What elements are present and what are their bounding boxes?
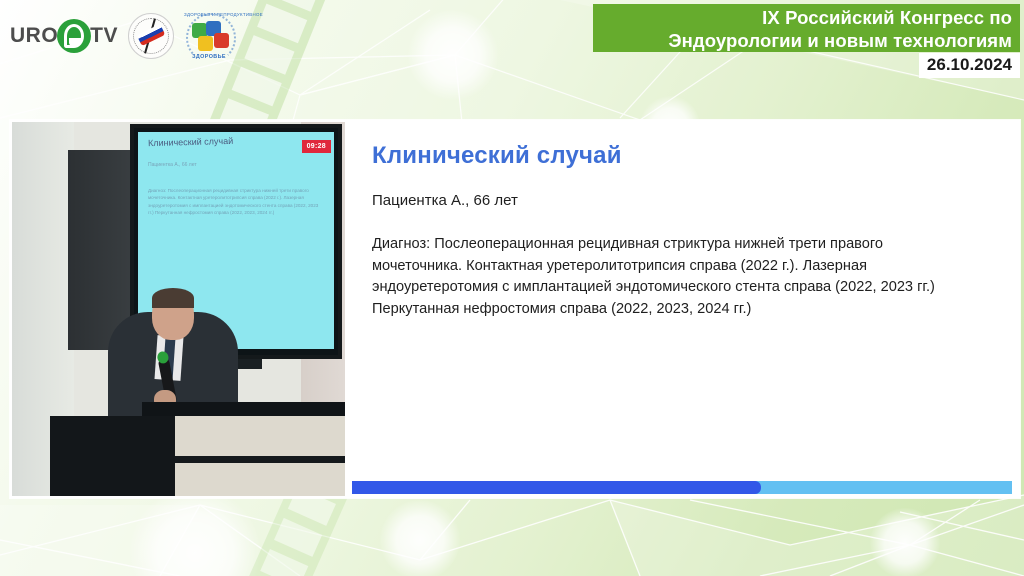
- video-podium-top: [142, 402, 345, 416]
- glow-spot: [870, 508, 940, 576]
- playback-progress-fill[interactable]: [352, 481, 761, 494]
- conference-video-player[interactable]: Клинический случай Пациентка А., 66 лет …: [12, 122, 345, 496]
- puzzle-logo-caption-top: ЗДОРОВЬЕ И РЕПРОДУКТИВНОЕ: [184, 12, 234, 17]
- congress-title-banner: IX Российский Конгресс по Эндоурологии и…: [593, 4, 1020, 52]
- urotv-emblem-icon: [57, 19, 91, 53]
- video-desk: [175, 416, 345, 496]
- video-slide-title: Клинический случай: [148, 136, 233, 148]
- zdorovie-puzzle-logo: ЗДОРОВЬЕ И РЕПРОДУКТИВНОЕ ЗДОРОВЬЕ: [184, 11, 234, 61]
- glow-spot: [380, 500, 460, 576]
- urotv-logo: URO TV: [10, 19, 118, 53]
- congress-title-line-2: Эндоурологии и новым технологиям: [593, 30, 1012, 53]
- glow-spot: [408, 10, 498, 100]
- puzzle-logo-caption-bottom: ЗДОРОВЬЕ: [184, 54, 234, 60]
- russian-emblem-logo: [128, 13, 174, 59]
- video-slide-subtitle: Пациентка А., 66 лет: [148, 162, 197, 168]
- video-timer-badge: 09:28: [302, 140, 331, 153]
- slide-title: Клинический случай: [372, 142, 622, 170]
- slide-body-text: Диагноз: Послеоперационная рецидивная ст…: [372, 234, 972, 320]
- glow-spot: [130, 488, 260, 576]
- video-speaker-hair: [152, 288, 194, 308]
- slide-text-area: Клинический случай Пациентка А., 66 лет …: [358, 122, 1012, 496]
- playback-progress-bar[interactable]: [352, 481, 1012, 494]
- congress-date-badge: 26.10.2024: [919, 53, 1020, 78]
- slide-subtitle: Пациентка А., 66 лет: [372, 192, 518, 209]
- video-podium-front: [50, 416, 175, 496]
- urotv-logo-text-right: TV: [90, 24, 118, 48]
- video-slide-body: Диагноз: Послеоперационная рецидивная ст…: [148, 187, 322, 217]
- puzzle-piece-yellow-icon: [198, 36, 213, 51]
- congress-title-line-1: IX Российский Конгресс по: [593, 7, 1012, 30]
- urotv-logo-text-left: URO: [10, 24, 58, 48]
- header-logo-group: URO TV ЗДОРОВЬЕ И РЕПРОДУКТИВНОЕ ЗДОРОВЬ…: [0, 0, 234, 72]
- puzzle-piece-red-icon: [214, 33, 229, 48]
- presentation-page: URO TV ЗДОРОВЬЕ И РЕПРОДУКТИВНОЕ ЗДОРОВЬ…: [0, 0, 1024, 576]
